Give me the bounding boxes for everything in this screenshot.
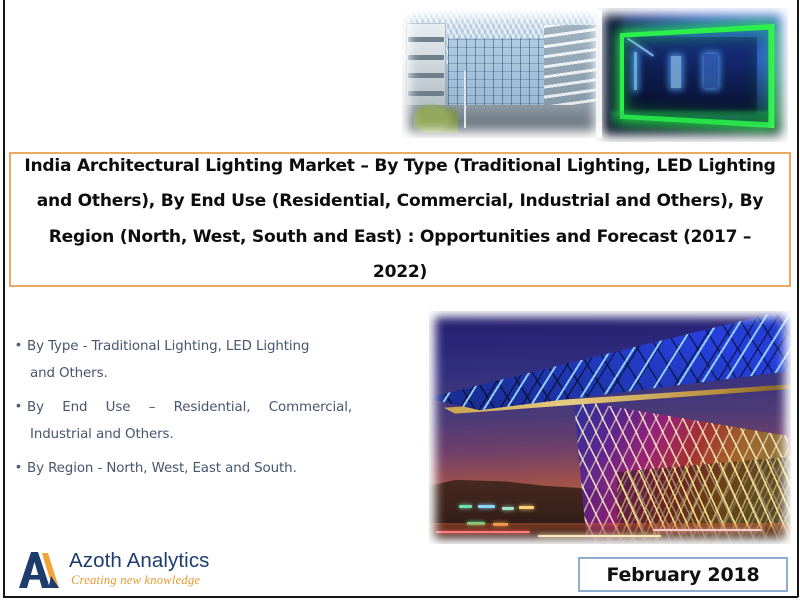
logo-wordmark: Azoth Analytics Creating new knowledge xyxy=(69,550,210,588)
publication-date: February 2018 xyxy=(606,564,759,586)
report-title: India Architectural Lighting Market – By… xyxy=(11,149,789,289)
bullet-icon: • xyxy=(16,333,27,356)
report-title-line-2: and Others), By End Use (Residential, Co… xyxy=(37,191,764,211)
report-cover-page: India Architectural Lighting Market – By… xyxy=(0,0,800,600)
bullet-icon: • xyxy=(16,394,27,417)
report-title-box: India Architectural Lighting Market – By… xyxy=(9,152,791,287)
scope-item-by-region-line-1: By Region - North, West, East and South. xyxy=(27,461,297,476)
scope-item-by-type: By Type - Traditional Lighting, LED Ligh… xyxy=(27,333,309,388)
azoth-analytics-logo: Azoth Analytics Creating new knowledge xyxy=(18,545,210,593)
report-title-line-3: Region (North, West, South and East) : O… xyxy=(49,227,751,282)
list-item: • By Type - Traditional Lighting, LED Li… xyxy=(16,333,416,388)
publication-date-badge: February 2018 xyxy=(578,557,788,592)
scope-item-by-end-use-line-1: By End Use – Residential, Commercial, xyxy=(27,394,352,421)
page-frame-bottom xyxy=(3,596,798,598)
scope-item-by-end-use: By End Use – Residential, Commercial, In… xyxy=(27,394,352,449)
bullet-icon: • xyxy=(16,455,27,478)
list-item: • By End Use – Residential, Commercial, … xyxy=(16,394,416,449)
list-item: • By Region - North, West, East and Sout… xyxy=(16,455,416,482)
hero-photo-soft-edge xyxy=(429,311,791,544)
scope-item-by-type-line-1: By Type - Traditional Lighting, LED Ligh… xyxy=(27,339,309,354)
header-image-strip xyxy=(398,2,792,146)
company-tagline: Creating new knowledge xyxy=(69,573,210,588)
page-frame-left xyxy=(3,0,5,597)
company-name: Azoth Analytics xyxy=(69,550,210,572)
azoth-analytics-logo-mark xyxy=(18,547,64,591)
neon-photo-soft-edge xyxy=(596,8,788,142)
scope-item-by-end-use-line-2: Industrial and Others. xyxy=(27,421,352,448)
report-title-line-1: India Architectural Lighting Market – By… xyxy=(24,156,775,176)
scope-item-by-type-line-2: and Others. xyxy=(27,360,309,387)
atrium-photo-soft-edge xyxy=(402,10,602,138)
scope-item-by-region: By Region - North, West, East and South. xyxy=(27,455,297,482)
glass-atrium-building-photo xyxy=(402,10,602,138)
report-scope-list: • By Type - Traditional Lighting, LED Li… xyxy=(16,333,416,488)
page-frame-right xyxy=(797,0,799,597)
illuminated-architectural-canopy-photo xyxy=(429,311,791,544)
green-led-neon-room-photo xyxy=(596,8,788,142)
